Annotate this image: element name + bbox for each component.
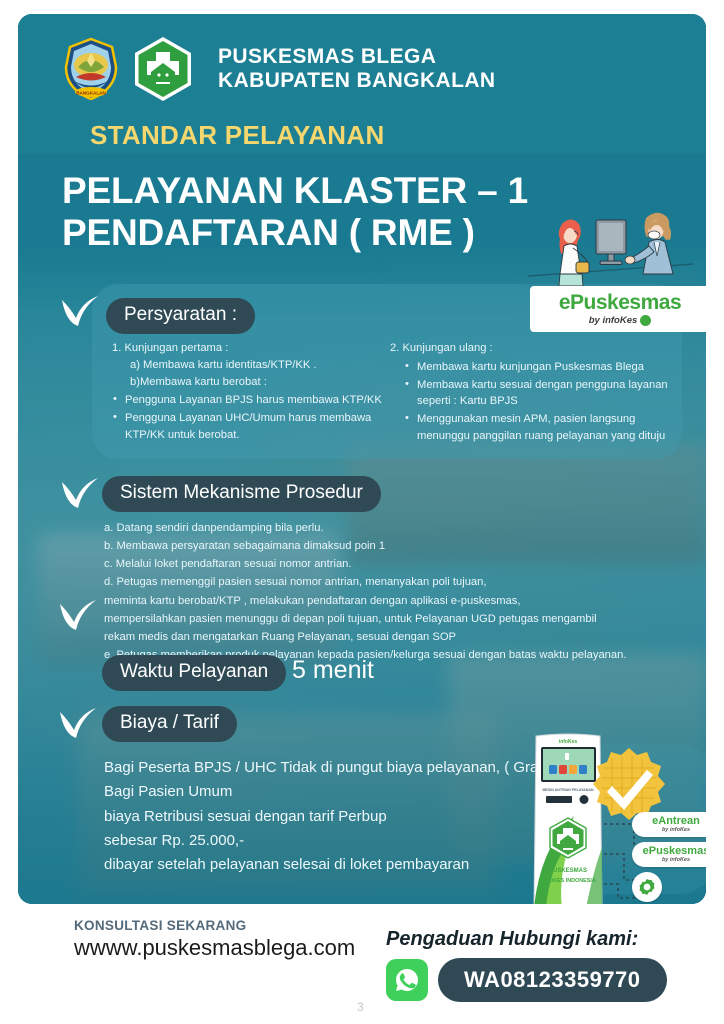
epuskesmas-mini-badge-by: by infoKes — [662, 858, 690, 864]
persyaratan-right-heading: 2. Kunjungan ulang : — [390, 340, 670, 357]
svg-text:infoKes: infoKes — [559, 739, 578, 745]
check-swoosh-icon-1 — [58, 290, 100, 332]
persyaratan-label: Persyaratan : — [106, 298, 255, 334]
poster-root: BANGKALAN PUSKESMAS — [0, 0, 724, 1024]
persyaratan-left-column: 1. Kunjungan pertama : a) Membawa kartu … — [112, 340, 382, 445]
product-badges: eAntrean by infoKes ePuskesmas by infoKe… — [632, 812, 706, 902]
org-name: PUSKESMAS BLEGA KABUPATEN BANGKALAN — [218, 45, 495, 92]
konsultasi-block: KONSULTASI SEKARANG wwww.puskesmasblega.… — [74, 918, 355, 961]
page-title-line-1: PELAYANAN KLASTER – 1 — [62, 170, 528, 212]
epuskesmas-badge: ePuskesmas by infoKes — [530, 286, 706, 332]
epuskesmas-badge-name: ePuskesmas — [559, 292, 681, 313]
persyaratan-right-bullets: Membawa kartu kunjungan Puskesmas Blega … — [390, 359, 670, 445]
whatsapp-icon[interactable] — [386, 959, 428, 1001]
persyaratan-left-bullets: Pengguna Layanan BPJS harus membawa KTP/… — [112, 392, 382, 443]
whatsapp-number[interactable]: WA08123359770 — [438, 958, 667, 1002]
biaya-line: dibayar setelah pelayanan selesai di lok… — [104, 853, 574, 877]
registration-illustration — [518, 190, 698, 286]
svg-text:INFOKES INDONESIA: INFOKES INDONESIA — [540, 878, 596, 884]
biaya-tarif-label: Biaya / Tarif — [102, 706, 237, 742]
header-logo-row: BANGKALAN PUSKESMAS — [62, 36, 495, 102]
standar-pelayanan-banner: STANDAR PELAYANAN — [90, 120, 385, 151]
pengaduan-label: Pengaduan Hubungi kami: — [386, 928, 638, 951]
prosedur-label: Sistem Mekanisme Prosedur — [102, 476, 381, 512]
epuskesmas-badge-by: by infoKes — [589, 315, 652, 326]
whatsapp-row[interactable]: WA08123359770 — [386, 958, 667, 1002]
green-cross-logo-icon — [132, 36, 194, 102]
biaya-line: Bagi Pasien Umum — [104, 780, 574, 804]
page-title-line-2: PENDAFTARAN ( RME ) — [62, 212, 528, 254]
svg-text:MESIN ANTRIAN PELAYANAN: MESIN ANTRIAN PELAYANAN — [542, 788, 594, 792]
page-number: 3 — [357, 1000, 364, 1014]
org-line-1: PUSKESMAS BLEGA — [218, 45, 495, 69]
epuskesmas-mini-badge: ePuskesmas by infoKes — [632, 842, 706, 867]
biaya-line: Bagi Peserta BPJS / UHC Tidak di pungut … — [104, 756, 574, 780]
check-swoosh-icon-4 — [56, 702, 98, 744]
header-bar: BANGKALAN PUSKESMAS — [18, 14, 706, 154]
persyaratan-left-sub-a: a) Membawa kartu identitas/KTP/KK . — [112, 357, 382, 374]
list-item: Pengguna Layanan BPJS harus membawa KTP/… — [112, 392, 382, 409]
biaya-line: sebesar Rp. 25.000,- — [104, 829, 574, 853]
waktu-pelayanan-label: Waktu Pelayanan — [102, 655, 286, 691]
eantrean-badge-by: by infoKes — [662, 828, 690, 834]
persyaratan-left-sub-b: b)Membawa kartu berobat : — [112, 374, 382, 391]
list-item: Pengguna Layanan UHC/Umum harus membawa … — [112, 410, 382, 444]
waktu-pelayanan-value: 5 menit — [292, 656, 374, 685]
prosedur-body: a. Datang sendiri danpendamping bila per… — [104, 519, 684, 664]
konsultasi-label: KONSULTASI SEKARANG — [74, 918, 355, 933]
svg-text:PUSKESMAS: PUSKESMAS — [549, 868, 587, 874]
poster-sheet: BANGKALAN PUSKESMAS — [18, 14, 706, 904]
prosedur-line: c. Melalui loket pendaftaran sesuai nomo… — [104, 555, 684, 573]
gear-icon — [632, 872, 662, 902]
website-link[interactable]: wwww.puskesmasblega.com — [74, 935, 355, 961]
check-swoosh-icon-2 — [58, 472, 100, 514]
infokes-dot-icon — [640, 315, 651, 326]
check-swoosh-icon-3 — [56, 594, 98, 636]
page-title: PELAYANAN KLASTER – 1 PENDAFTARAN ( RME … — [62, 170, 528, 254]
prosedur-line: b. Membawa persyaratan sebagaimana dimak… — [104, 537, 684, 555]
prosedur-line: d. Petugas memenggil pasien sesuai nomor… — [104, 573, 684, 591]
epuskesmas-badge-by-text: by infoKes — [589, 315, 638, 326]
svg-text:BANGKALAN: BANGKALAN — [76, 90, 106, 95]
epuskesmas-mini-badge-name: ePuskesmas — [643, 846, 706, 857]
list-item: Menggunakan mesin APM, pasien langsung m… — [404, 411, 670, 445]
persyaratan-right-column: 2. Kunjungan ulang : Membawa kartu kunju… — [390, 340, 670, 446]
list-item: Membawa kartu sesuai dengan pengguna lay… — [404, 377, 670, 411]
biaya-tarif-body: Bagi Peserta BPJS / UHC Tidak di pungut … — [104, 756, 574, 877]
persyaratan-left-heading: 1. Kunjungan pertama : — [112, 340, 382, 357]
prosedur-line: rekam medis dan mengatarkan Ruang Pelaya… — [104, 628, 684, 646]
prosedur-line: a. Datang sendiri danpendamping bila per… — [104, 519, 684, 537]
org-line-2: KABUPATEN BANGKALAN — [218, 69, 495, 93]
eantrean-badge: eAntrean by infoKes — [632, 812, 706, 837]
list-item: Membawa kartu kunjungan Puskesmas Blega — [404, 359, 670, 376]
bangkalan-crest-icon: BANGKALAN — [62, 37, 120, 101]
eantrean-badge-name: eAntrean — [652, 816, 700, 827]
prosedur-line: mempersilahkan pasien menunggu di depan … — [104, 610, 684, 628]
prosedur-line: meminta kartu berobat/KTP , melakukan pe… — [104, 592, 684, 610]
biaya-line: biaya Retribusi sesuai dengan tarif Perb… — [104, 805, 574, 829]
